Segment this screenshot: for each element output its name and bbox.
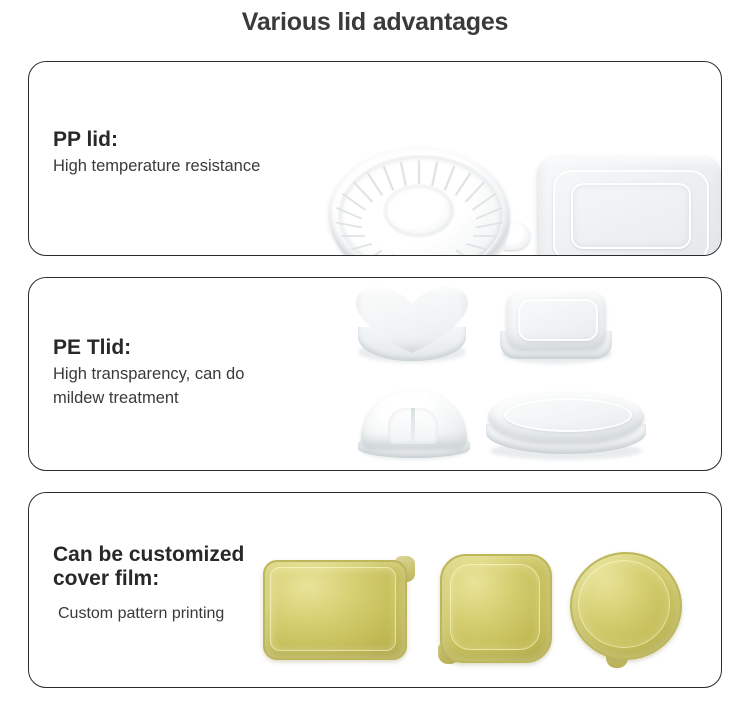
square-dome-pet-lid-image — [498, 287, 616, 365]
round-gold-foil-lid-image — [568, 550, 693, 668]
lid-inner-groove — [518, 299, 598, 341]
foil-inner-panel — [450, 564, 540, 650]
square-gold-foil-lid-image — [432, 552, 557, 667]
pp-heading: PP lid: — [53, 128, 260, 152]
rectangular-gold-foil-lid-image — [263, 552, 413, 662]
round-ribbed-pp-lid-image — [319, 136, 534, 256]
pp-subtitle: High temperature resistance — [53, 155, 260, 179]
film-text-block: Can be customized cover film: Custom pat… — [53, 543, 244, 625]
rectangular-pp-lid-image — [529, 150, 722, 256]
oval-pet-lid-image — [486, 390, 646, 460]
pe-heading: PE Tlid: — [53, 336, 244, 360]
round-dome-pet-lid-image — [358, 388, 470, 460]
film-subtitle: Custom pattern printing — [58, 602, 244, 625]
lid-inner-groove — [504, 398, 632, 432]
lid-inner-panel — [571, 183, 691, 249]
foil-inner-panel — [578, 560, 670, 648]
foil-inner-panel — [270, 567, 396, 651]
panel-pp-lid: PP lid: High temperature resistance — [28, 61, 722, 256]
pp-text-block: PP lid: High temperature resistance — [53, 128, 260, 179]
film-heading: Can be customized cover film: — [53, 543, 244, 591]
page-title: Various lid advantages — [0, 8, 750, 37]
heart-shaped-pet-lid-image — [352, 287, 472, 365]
pe-text-block: PE Tlid: High transparency, can do milde… — [53, 336, 244, 411]
pe-subtitle: High transparency, can do mildew treatme… — [53, 363, 244, 411]
lid-inner-detail — [388, 408, 438, 444]
lid-center-hub — [385, 186, 453, 236]
